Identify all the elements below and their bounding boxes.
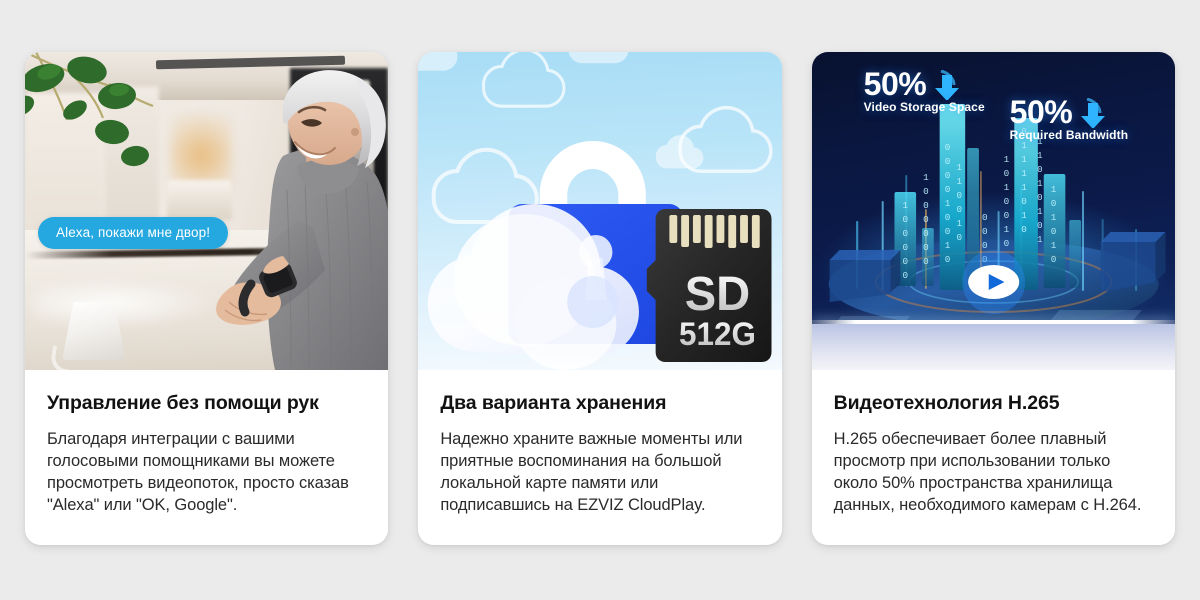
svg-text:1: 1 — [1003, 224, 1009, 235]
svg-text:0: 0 — [956, 232, 962, 243]
svg-text:0: 0 — [944, 142, 950, 153]
sd-card-label: SD — [685, 268, 750, 321]
svg-text:0: 0 — [1003, 168, 1009, 179]
svg-text:1: 1 — [1021, 182, 1027, 193]
svg-text:1: 1 — [1037, 178, 1043, 189]
svg-text:0: 0 — [944, 254, 950, 265]
card-description: Благодаря интеграции с вашими голосовыми… — [47, 429, 366, 517]
feature-card-list: Alexa, покажи мне двор! Управление без п… — [25, 52, 1175, 545]
svg-text:0: 0 — [956, 204, 962, 215]
svg-text:1: 1 — [902, 200, 908, 211]
svg-text:0: 0 — [982, 212, 988, 223]
svg-text:1: 1 — [944, 240, 950, 251]
svg-text:1: 1 — [956, 162, 962, 173]
svg-text:0: 0 — [1003, 210, 1009, 221]
arrow-down-icon — [933, 70, 959, 100]
device-cable — [49, 345, 92, 370]
svg-text:1: 1 — [1050, 184, 1056, 195]
svg-text:0: 0 — [944, 156, 950, 167]
h265-illustration: 100 000 100 000 0 000 010 010 110 010 10… — [812, 52, 1175, 370]
svg-text:1: 1 — [1050, 240, 1056, 251]
svg-text:0: 0 — [1003, 196, 1009, 207]
svg-text:0: 0 — [1037, 220, 1043, 231]
svg-text:0: 0 — [944, 226, 950, 237]
svg-text:0: 0 — [982, 226, 988, 237]
plant-icon — [25, 52, 163, 179]
card-body: Видеотехнология H.265 H.265 обеспечивает… — [812, 370, 1175, 545]
stat-value: 50% — [864, 66, 927, 103]
svg-text:0: 0 — [902, 242, 908, 253]
feature-card-h265[interactable]: 100 000 100 000 0 000 010 010 110 010 10… — [812, 52, 1175, 545]
svg-text:0: 0 — [1021, 196, 1027, 207]
svg-text:0: 0 — [1037, 192, 1043, 203]
svg-text:0: 0 — [1050, 254, 1056, 265]
svg-text:1: 1 — [1037, 150, 1043, 161]
svg-text:1: 1 — [1003, 182, 1009, 193]
feature-card-storage[interactable]: SD 512G Два варианта хранения Надежно хр… — [418, 52, 781, 545]
svg-text:0: 0 — [902, 270, 908, 281]
svg-text:1: 1 — [1003, 154, 1009, 165]
stat-value: 50% — [1010, 94, 1073, 131]
svg-text:0: 0 — [1021, 224, 1027, 235]
svg-text:0: 0 — [1003, 238, 1009, 249]
arrow-down-icon — [1079, 98, 1105, 128]
svg-text:0: 0 — [902, 256, 908, 267]
svg-text:1: 1 — [956, 218, 962, 229]
svg-text:0: 0 — [944, 212, 950, 223]
feature-card-hands-free[interactable]: Alexa, покажи мне двор! Управление без п… — [25, 52, 388, 545]
storage-illustration: SD 512G — [418, 52, 781, 370]
svg-text:0: 0 — [982, 240, 988, 251]
page-root: Alexa, покажи мне двор! Управление без п… — [0, 0, 1200, 600]
svg-text:0: 0 — [923, 214, 929, 225]
svg-text:0: 0 — [944, 184, 950, 195]
card-body: Управление без помощи рук Благодаря инте… — [25, 370, 388, 545]
svg-text:0: 0 — [923, 228, 929, 239]
svg-text:0: 0 — [944, 170, 950, 181]
svg-text:1: 1 — [1037, 234, 1043, 245]
svg-text:1: 1 — [1050, 212, 1056, 223]
svg-text:0: 0 — [902, 214, 908, 225]
svg-text:1: 1 — [923, 172, 929, 183]
sd-card-capacity: 512G — [679, 316, 756, 352]
floor-reflection — [812, 324, 1175, 370]
stat-video-storage-space: 50% Video Storage Space — [864, 66, 985, 114]
card-title: Управление без помощи рук — [47, 392, 366, 415]
card-title: Видеотехнология H.265 — [834, 392, 1153, 415]
card-description: Надежно храните важные моменты или прият… — [440, 429, 759, 517]
svg-text:0: 0 — [923, 200, 929, 211]
card-description: H.265 обеспечивает более плавный просмот… — [834, 429, 1153, 517]
svg-text:0: 0 — [923, 256, 929, 267]
sd-card: SD 512G — [647, 209, 772, 362]
card-media-photo: Alexa, покажи мне двор! — [25, 52, 388, 370]
card-body: Два варианта хранения Надежно храните ва… — [418, 370, 781, 545]
kitchen-photo — [25, 52, 388, 370]
stat-required-bandwidth: 50% Required Bandwidth — [1010, 94, 1128, 142]
card-media-storage: SD 512G — [418, 52, 781, 370]
svg-text:0: 0 — [902, 228, 908, 239]
svg-text:0: 0 — [1050, 226, 1056, 237]
svg-text:0: 0 — [923, 186, 929, 197]
svg-text:0: 0 — [923, 242, 929, 253]
card-media-h265: 100 000 100 000 0 000 010 010 110 010 10… — [812, 52, 1175, 370]
card-title: Два варианта хранения — [440, 392, 759, 415]
play-icon — [962, 250, 1025, 314]
svg-text:1: 1 — [1021, 210, 1027, 221]
stat-label: Video Storage Space — [864, 100, 985, 114]
svg-text:1: 1 — [1021, 154, 1027, 165]
alexa-voice-badge: Alexa, покажи мне двор! — [38, 217, 228, 249]
svg-text:1: 1 — [944, 198, 950, 209]
svg-text:0: 0 — [1050, 198, 1056, 209]
svg-text:0: 0 — [956, 190, 962, 201]
cloud-lock-sd-graphic: SD 512G — [418, 52, 781, 370]
svg-text:1: 1 — [956, 176, 962, 187]
svg-text:0: 0 — [1037, 164, 1043, 175]
svg-text:1: 1 — [1021, 168, 1027, 179]
svg-text:1: 1 — [1037, 206, 1043, 217]
stat-label: Required Bandwidth — [1010, 128, 1128, 142]
